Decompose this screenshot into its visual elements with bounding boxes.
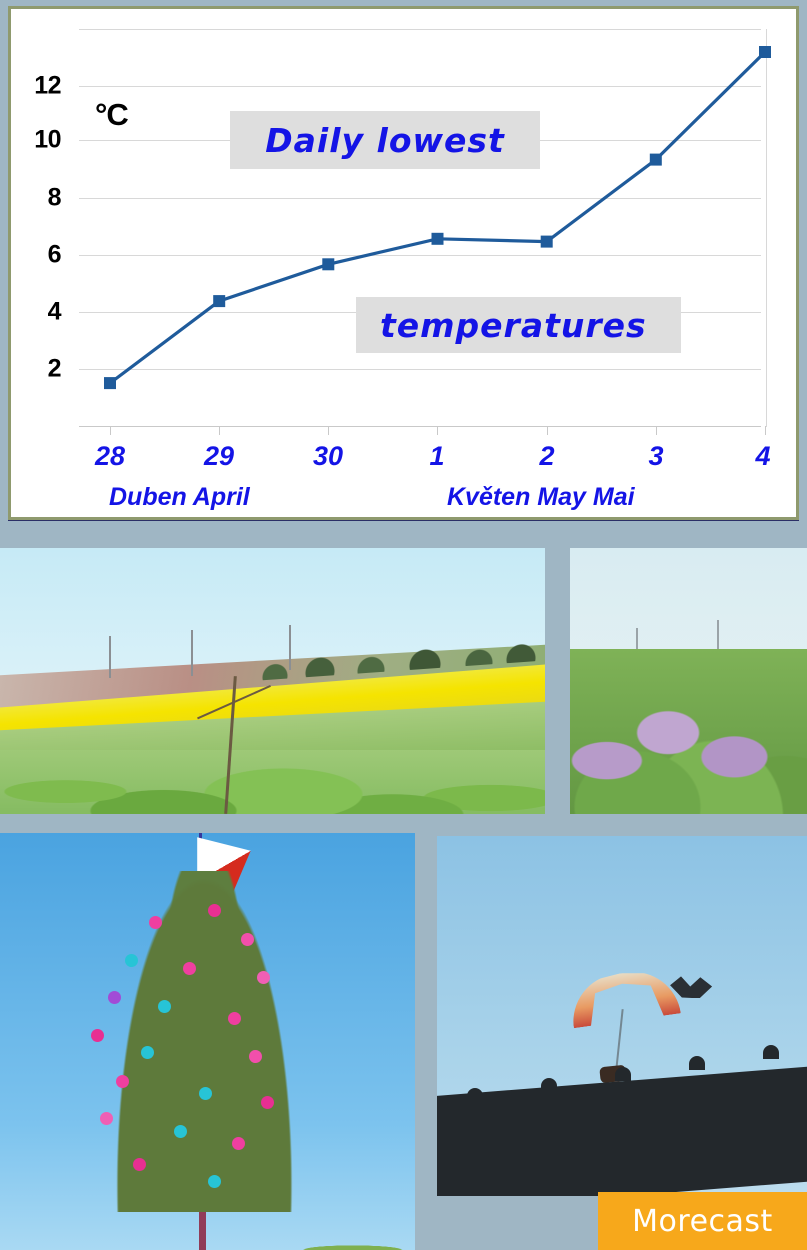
gridline-2	[79, 369, 761, 370]
y-tick-label-10: 10	[1, 126, 61, 155]
x-tick-label-29: 29	[184, 441, 254, 472]
y-tick-label-8: 8	[1, 184, 61, 213]
paper-flower	[249, 1050, 262, 1063]
paper-flower	[158, 1000, 171, 1013]
plot-right-edge	[766, 29, 767, 427]
watermark-label: Morecast	[632, 1204, 773, 1239]
y-tick-label-2: 2	[1, 355, 61, 384]
photo-lilac-bushes	[570, 548, 807, 814]
paper-flower	[208, 1175, 221, 1188]
x-tick-label-4: 4	[728, 441, 798, 472]
x-tick-5	[656, 426, 657, 435]
y-axis-unit-label: °C	[95, 97, 128, 133]
roof-ridge-tile	[763, 1045, 779, 1059]
annotation-temperatures: temperatures	[356, 297, 681, 353]
paper-flower	[100, 1112, 113, 1125]
photo-powered-paraglider	[437, 836, 807, 1196]
gridline-8	[79, 198, 761, 199]
chart-panel: 12 10 8 6 4 2 °C Daily lowest temperatur…	[8, 6, 799, 520]
x-tick-label-3: 3	[621, 441, 691, 472]
roof-ridge-tile	[689, 1056, 705, 1070]
photo-decorated-maypole	[0, 833, 415, 1250]
roof-ridge-tile	[541, 1078, 557, 1092]
lilac-bush-foliage	[570, 649, 807, 814]
month-label-row: Duben April Květen May Mai	[79, 483, 761, 517]
morecast-watermark: Morecast	[598, 1192, 807, 1250]
paper-flower	[116, 1075, 129, 1088]
foreground-foliage	[0, 702, 545, 814]
gridline-top	[79, 29, 761, 30]
paper-flower	[241, 933, 254, 946]
power-pylon-icon	[191, 630, 193, 675]
y-tick-label-6: 6	[1, 241, 61, 270]
x-tick-3	[437, 426, 438, 435]
gridline-12	[79, 86, 761, 87]
background-shrub	[0, 1217, 415, 1250]
x-tick-label-2: 2	[512, 441, 582, 472]
month-label-april: Duben April	[109, 483, 250, 512]
x-tick-label-1: 1	[402, 441, 472, 472]
x-tick-label-30: 30	[293, 441, 363, 472]
x-axis-line	[79, 426, 761, 427]
paper-flower	[133, 1158, 146, 1171]
x-tick-0	[110, 426, 111, 435]
power-pylon-icon	[289, 625, 291, 670]
chart-plot-area: 12 10 8 6 4 2 °C Daily lowest temperatur…	[11, 9, 796, 517]
y-tick-label-12: 12	[1, 72, 61, 101]
photo-rapeseed-field-landscape	[0, 548, 545, 814]
y-tick-label-4: 4	[1, 298, 61, 327]
power-pylon-icon	[109, 636, 111, 679]
paper-flower	[125, 954, 138, 967]
paper-flower	[141, 1046, 154, 1059]
paper-flower	[183, 962, 196, 975]
x-tick-4	[547, 426, 548, 435]
roof-ridge-tile	[467, 1088, 483, 1102]
x-tick-6	[765, 426, 766, 435]
x-tick-1	[219, 426, 220, 435]
gridline-6	[79, 255, 761, 256]
paper-flower	[208, 904, 221, 917]
paper-flower	[257, 971, 270, 984]
x-tick-2	[328, 426, 329, 435]
x-tick-label-28: 28	[75, 441, 145, 472]
annotation-daily-lowest: Daily lowest	[230, 111, 540, 169]
month-label-may: Květen May Mai	[447, 483, 635, 512]
roof-ridge-tile	[615, 1067, 631, 1081]
